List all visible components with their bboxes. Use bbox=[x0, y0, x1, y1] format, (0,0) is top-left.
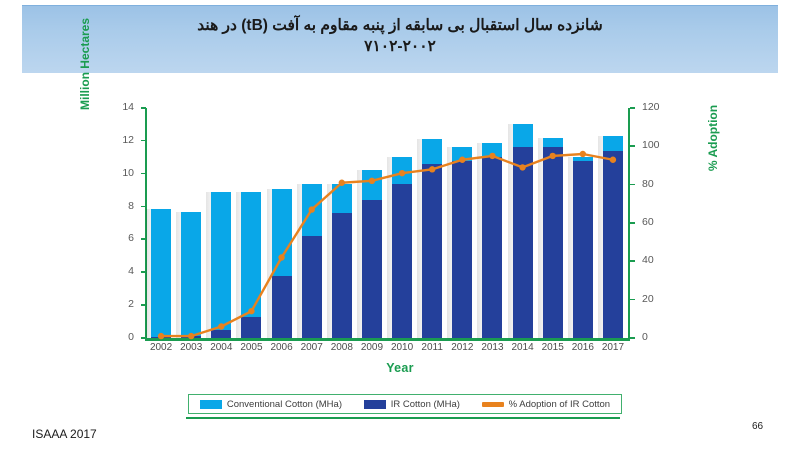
y-axis-right-tick-label: 60 bbox=[642, 217, 672, 227]
bar-segment-ir-cotton bbox=[151, 337, 171, 338]
bar-stack bbox=[302, 184, 322, 338]
y-axis-left-tick-label: 14 bbox=[104, 102, 134, 112]
bar-segment-ir-cotton bbox=[241, 317, 261, 338]
bar-segment-conventional-cotton bbox=[151, 209, 171, 337]
bar-segment-ir-cotton bbox=[181, 336, 201, 338]
slide-title-line-1: شانزده سال استقبال بی سابقه از پنبه مقاو… bbox=[197, 15, 602, 36]
y-axis-left-tick-label: 2 bbox=[104, 299, 134, 309]
y-axis-right-tick bbox=[630, 260, 635, 262]
bar-stack bbox=[241, 192, 261, 338]
bar-stack bbox=[211, 192, 231, 338]
bar-stack bbox=[543, 138, 563, 338]
y-axis-left-tick bbox=[141, 107, 146, 109]
legend-item[interactable]: % Adoption of IR Cotton bbox=[482, 399, 610, 410]
y-axis-right-tick-label: 100 bbox=[642, 140, 672, 150]
x-axis-line bbox=[145, 338, 630, 341]
legend-box-swatch-icon bbox=[364, 400, 386, 409]
bar-segment-conventional-cotton bbox=[302, 184, 322, 237]
x-axis-tick-label: 2017 bbox=[593, 342, 633, 353]
bar-stack bbox=[332, 184, 352, 338]
y-axis-left-tick-label: 12 bbox=[104, 135, 134, 145]
legend-item-label: % Adoption of IR Cotton bbox=[509, 399, 610, 410]
bar-segment-ir-cotton bbox=[603, 151, 623, 338]
bar-stack bbox=[392, 157, 412, 338]
y-axis-right-tick-label: 80 bbox=[642, 179, 672, 189]
y-axis-left-tick-label: 4 bbox=[104, 266, 134, 276]
y-axis-left-tick-label: 6 bbox=[104, 233, 134, 243]
y-axis-left-tick-label: 10 bbox=[104, 168, 134, 178]
source-citation: ISAAA 2017 bbox=[32, 427, 97, 441]
bar-segment-conventional-cotton bbox=[181, 212, 201, 337]
bar-segment-ir-cotton bbox=[513, 147, 533, 338]
bar-stack bbox=[603, 136, 623, 338]
bar-segment-ir-cotton bbox=[482, 157, 502, 338]
bar-stack bbox=[452, 147, 472, 338]
x-axis-title: Year bbox=[0, 361, 800, 375]
legend-line-swatch-icon bbox=[482, 402, 504, 407]
bar-segment-ir-cotton bbox=[332, 213, 352, 338]
legend-item-label: Conventional Cotton (MHa) bbox=[227, 399, 342, 410]
cotton-adoption-chart: Million Hectares % Adoption 02468101214 … bbox=[0, 78, 800, 418]
legend-item-label: IR Cotton (MHa) bbox=[391, 399, 460, 410]
bar-segment-conventional-cotton bbox=[272, 189, 292, 276]
y-axis-right-tick-label: 20 bbox=[642, 294, 672, 304]
y-axis-right-tick bbox=[630, 222, 635, 224]
bar-segment-conventional-cotton bbox=[422, 139, 442, 164]
bar-segment-conventional-cotton bbox=[603, 136, 623, 151]
bar-segment-conventional-cotton bbox=[452, 147, 472, 160]
y-axis-left-title: Million Hectares bbox=[78, 0, 92, 144]
legend-item[interactable]: Conventional Cotton (MHa) bbox=[200, 399, 342, 410]
bar-segment-conventional-cotton bbox=[513, 124, 533, 147]
slide-title-line-2: ۲۰۰۲-۲۰۱۷ bbox=[364, 36, 436, 57]
bar-segment-ir-cotton bbox=[543, 147, 563, 338]
y-axis-left-tick bbox=[141, 173, 146, 175]
bar-stack bbox=[272, 189, 292, 339]
bar-segment-ir-cotton bbox=[362, 200, 382, 338]
bar-stack bbox=[513, 124, 533, 338]
bar-segment-conventional-cotton bbox=[241, 192, 261, 317]
legend-item[interactable]: IR Cotton (MHa) bbox=[364, 399, 460, 410]
y-axis-right-tick bbox=[630, 184, 635, 186]
bar-segment-conventional-cotton bbox=[362, 170, 382, 200]
bar-segment-conventional-cotton bbox=[482, 143, 502, 158]
bar-segment-conventional-cotton bbox=[211, 192, 231, 330]
bar-segment-conventional-cotton bbox=[332, 184, 352, 214]
y-axis-right-tick-label: 120 bbox=[642, 102, 672, 112]
bar-stack bbox=[151, 209, 171, 338]
bar-segment-conventional-cotton bbox=[392, 157, 412, 183]
footer-divider bbox=[186, 417, 620, 419]
legend-box-swatch-icon bbox=[200, 400, 222, 409]
bar-segment-ir-cotton bbox=[573, 161, 593, 338]
adoption-line-marker bbox=[580, 151, 586, 157]
bar-stack bbox=[181, 212, 201, 339]
bar-segment-conventional-cotton bbox=[543, 138, 563, 148]
slide-page-number: 66 bbox=[752, 421, 763, 432]
y-axis-left-tick bbox=[141, 206, 146, 208]
y-axis-left-tick-label: 8 bbox=[104, 201, 134, 211]
y-axis-right-tick bbox=[630, 337, 635, 339]
chart-legend: Conventional Cotton (MHa)IR Cotton (MHa)… bbox=[188, 394, 622, 414]
y-axis-right-line bbox=[628, 108, 630, 339]
bar-segment-ir-cotton bbox=[302, 236, 322, 338]
bar-segment-ir-cotton bbox=[392, 184, 412, 338]
y-axis-right-tick-label: 0 bbox=[642, 332, 672, 342]
bar-segment-ir-cotton bbox=[452, 161, 472, 338]
bar-segment-ir-cotton bbox=[422, 164, 442, 338]
y-axis-left-tick-label: 0 bbox=[104, 332, 134, 342]
bar-stack bbox=[573, 157, 593, 338]
bar-segment-ir-cotton bbox=[272, 276, 292, 338]
bar-stack bbox=[422, 139, 442, 338]
bar-segment-ir-cotton bbox=[211, 330, 231, 338]
y-axis-right-tick bbox=[630, 145, 635, 147]
y-axis-right-tick-label: 40 bbox=[642, 255, 672, 265]
y-axis-right-tick bbox=[630, 107, 635, 109]
bar-stack bbox=[482, 143, 502, 339]
y-axis-right-title: % Adoption bbox=[706, 78, 720, 198]
y-axis-right-tick bbox=[630, 299, 635, 301]
bar-stack bbox=[362, 170, 382, 338]
y-axis-left-tick bbox=[141, 140, 146, 142]
slide-title-banner: شانزده سال استقبال بی سابقه از پنبه مقاو… bbox=[22, 5, 778, 73]
